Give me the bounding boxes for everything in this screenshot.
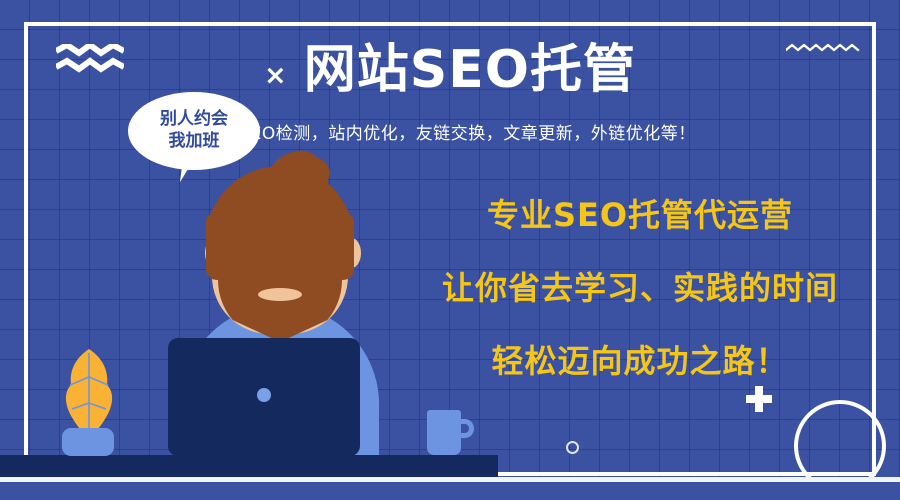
seo-hosting-banner: × 网站SEO托管 含：SEO检测，站内优化，友链交换，文章更新，外链优化等！ … xyxy=(0,0,900,500)
plant-pot xyxy=(62,428,114,456)
person-eyebrow-left xyxy=(230,236,258,243)
coffee-mug-icon xyxy=(427,410,461,455)
person-eyebrow-right xyxy=(312,236,340,243)
desk-surface xyxy=(0,455,498,477)
floor-strip xyxy=(0,482,900,500)
plant-leaf-icon xyxy=(61,347,117,439)
laptop-logo-icon xyxy=(257,388,271,402)
person-mouth xyxy=(258,288,302,301)
